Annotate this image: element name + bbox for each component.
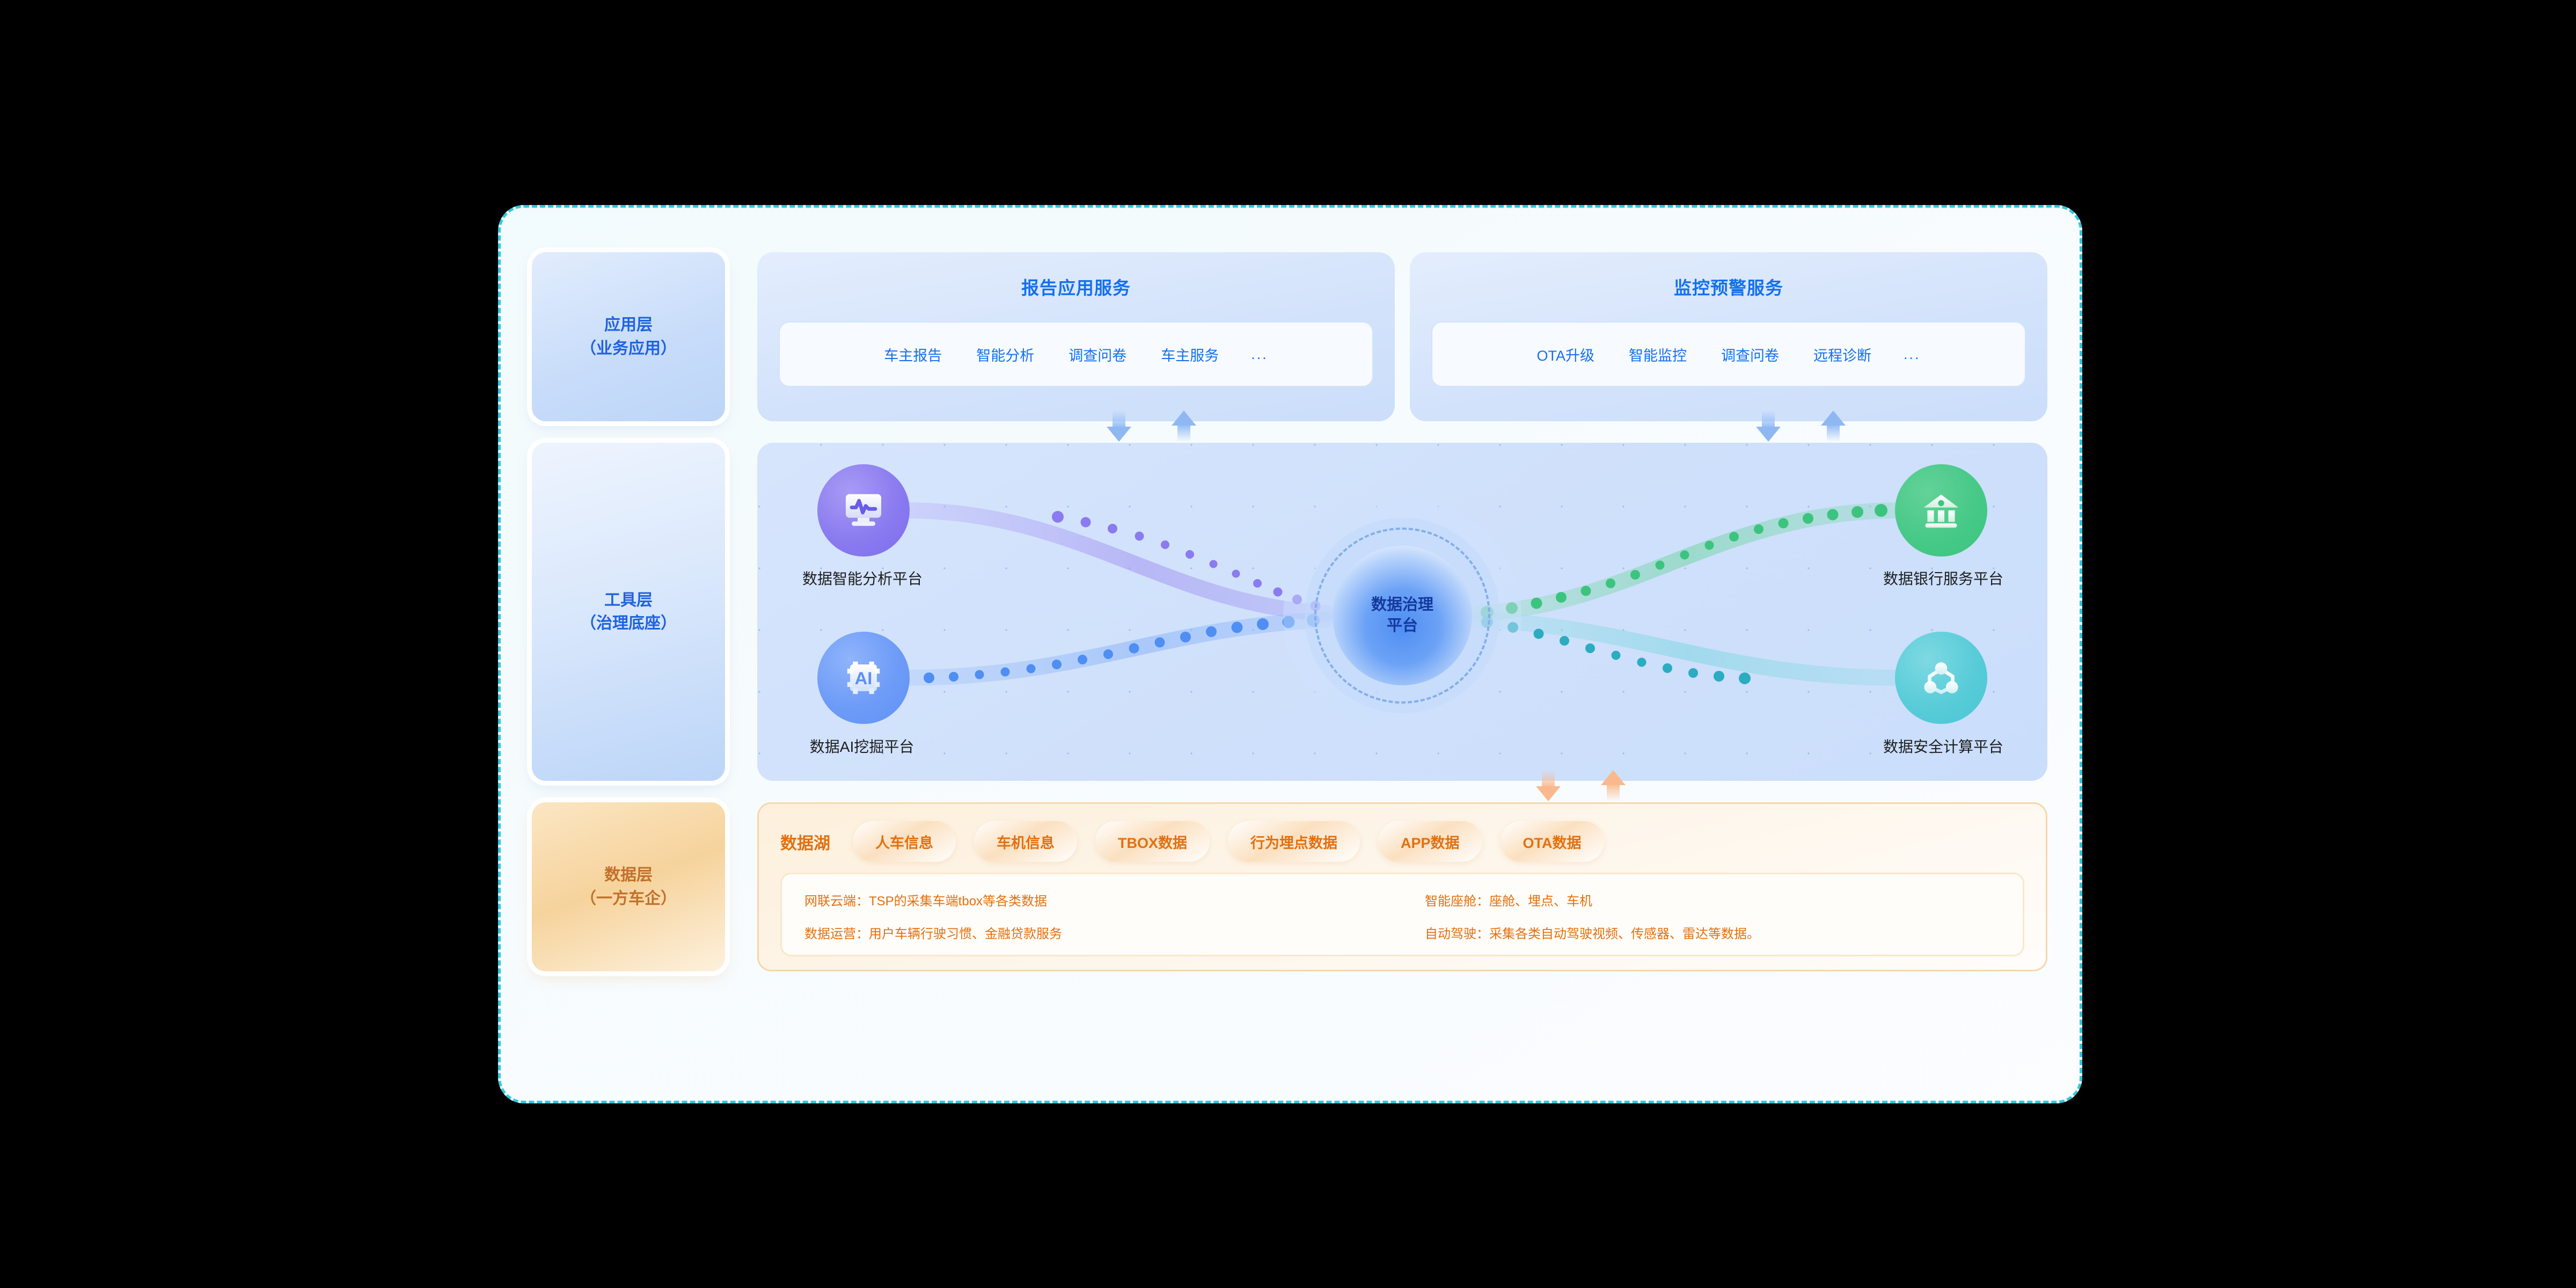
node-data-bank-service-platform[interactable]: [1895, 464, 1987, 557]
service-item-list: OTA升级 智能监控 调查问卷 远程诊断 ...: [1431, 321, 2026, 387]
data-lake-tag[interactable]: 行为埋点数据: [1228, 821, 1360, 862]
service-item-more[interactable]: ...: [1889, 346, 1938, 363]
ai-chip-icon: AI: [841, 655, 886, 700]
service-item-more[interactable]: ...: [1236, 346, 1285, 363]
node-data-security-computing-platform[interactable]: [1895, 632, 1987, 724]
monitor-pulse-icon: [840, 487, 887, 534]
layer-title-data: 数据层: [580, 863, 677, 887]
node-label-data-security: 数据安全计算平台: [1863, 735, 2024, 757]
service-item[interactable]: 调查问卷: [1704, 344, 1796, 365]
node-data-ai-mining-platform[interactable]: AI: [817, 632, 910, 724]
data-lake-row: 数据湖 人车信息 车机信息 TBOX数据 行为埋点数据 APP数据 OTA数据: [780, 817, 2024, 866]
service-item[interactable]: 远程诊断: [1796, 344, 1889, 365]
layer-subtitle-tool: （治理底座）: [580, 612, 677, 635]
arrow-down-tool-to-data: [1536, 770, 1561, 801]
bank-building-icon: [1918, 487, 1964, 533]
data-source-description-card: 网联云端：TSP的采集车端tbox等各类数据 数据运营：用户车辆行驶习惯、金融贷…: [780, 873, 2024, 956]
service-card-report[interactable]: 报告应用服务 车主报告 智能分析 调查问卷 车主服务 ...: [757, 252, 1395, 421]
service-item[interactable]: OTA升级: [1519, 344, 1612, 365]
node-label-data-bank: 数据银行服务平台: [1863, 567, 2024, 589]
service-item[interactable]: 智能分析: [959, 344, 1051, 365]
central-hub-data-governance[interactable]: 数据治理 平台: [1333, 546, 1472, 685]
node-label-data-analytics: 数据智能分析平台: [782, 567, 943, 589]
tool-layer-panel: 数据治理 平台 数据智能分析平台: [757, 443, 2047, 781]
hub-label-line1: 数据治理: [1371, 596, 1433, 613]
service-item[interactable]: 智能监控: [1612, 344, 1704, 365]
layer-label-tool: 工具层 （治理底座）: [532, 443, 725, 781]
hub-core: 数据治理 平台: [1333, 546, 1472, 685]
data-lake-tag[interactable]: TBOX数据: [1095, 821, 1210, 862]
layer-label-data: 数据层 （一方车企）: [532, 802, 725, 971]
secure-node-icon: [1918, 655, 1964, 701]
node-data-analytics-platform[interactable]: [817, 464, 910, 557]
layer-subtitle-data: （一方车企）: [580, 887, 677, 911]
arrow-up-tool-to-app-right: [1821, 411, 1846, 442]
data-layer-panel: 数据湖 人车信息 车机信息 TBOX数据 行为埋点数据 APP数据 OTA数据 …: [757, 802, 2047, 971]
service-item[interactable]: 车主服务: [1144, 344, 1236, 365]
description-column-left: 网联云端：TSP的采集车端tbox等各类数据 数据运营：用户车辆行驶习惯、金融贷…: [782, 874, 1402, 955]
description-line: 智能座舱：座舱、埋点、车机: [1425, 890, 2023, 909]
service-card-monitor[interactable]: 监控预警服务 OTA升级 智能监控 调查问卷 远程诊断 ...: [1410, 252, 2047, 421]
arrow-up-tool-to-app-left: [1172, 411, 1196, 442]
service-card-title: 报告应用服务: [757, 274, 1395, 299]
data-lake-tag[interactable]: 车机信息: [974, 821, 1077, 862]
node-label-data-ai-mining: 数据AI挖掘平台: [795, 735, 929, 757]
application-layer: 报告应用服务 车主报告 智能分析 调查问卷 车主服务 ... 监控预警服务 OT…: [757, 252, 2047, 421]
layer-title-application: 应用层: [580, 313, 677, 337]
arrow-up-data-to-tool: [1601, 770, 1626, 801]
svg-text:AI: AI: [855, 668, 873, 688]
description-column-right: 智能座舱：座舱、埋点、车机 自动驾驶：采集各类自动驾驶视频、传感器、雷达等数据。: [1402, 874, 2023, 955]
layer-title-tool: 工具层: [580, 589, 677, 612]
service-item[interactable]: 调查问卷: [1051, 344, 1144, 365]
description-line: 数据运营：用户车辆行驶习惯、金融贷款服务: [804, 923, 1402, 942]
data-lake-tag[interactable]: OTA数据: [1501, 821, 1604, 862]
data-lake-tag[interactable]: APP数据: [1378, 821, 1482, 862]
service-item[interactable]: 车主报告: [867, 344, 959, 365]
arrow-down-app-to-tool-left: [1107, 411, 1131, 442]
layer-label-application: 应用层 （业务应用）: [532, 252, 725, 421]
architecture-diagram-frame: 应用层 （业务应用） 工具层 （治理底座） 数据层 （一方车企） 报告应用服务 …: [498, 205, 2082, 1103]
data-lake-tag[interactable]: 人车信息: [853, 821, 956, 862]
hub-label-line2: 平台: [1387, 617, 1418, 634]
arrow-down-app-to-tool-right: [1756, 411, 1781, 442]
service-card-title: 监控预警服务: [1410, 274, 2047, 299]
description-line: 自动驾驶：采集各类自动驾驶视频、传感器、雷达等数据。: [1425, 923, 2023, 942]
data-lake-title: 数据湖: [780, 830, 830, 854]
description-line: 网联云端：TSP的采集车端tbox等各类数据: [804, 890, 1402, 909]
service-item-list: 车主报告 智能分析 调查问卷 车主服务 ...: [779, 321, 1373, 387]
layer-subtitle-application: （业务应用）: [580, 337, 677, 361]
